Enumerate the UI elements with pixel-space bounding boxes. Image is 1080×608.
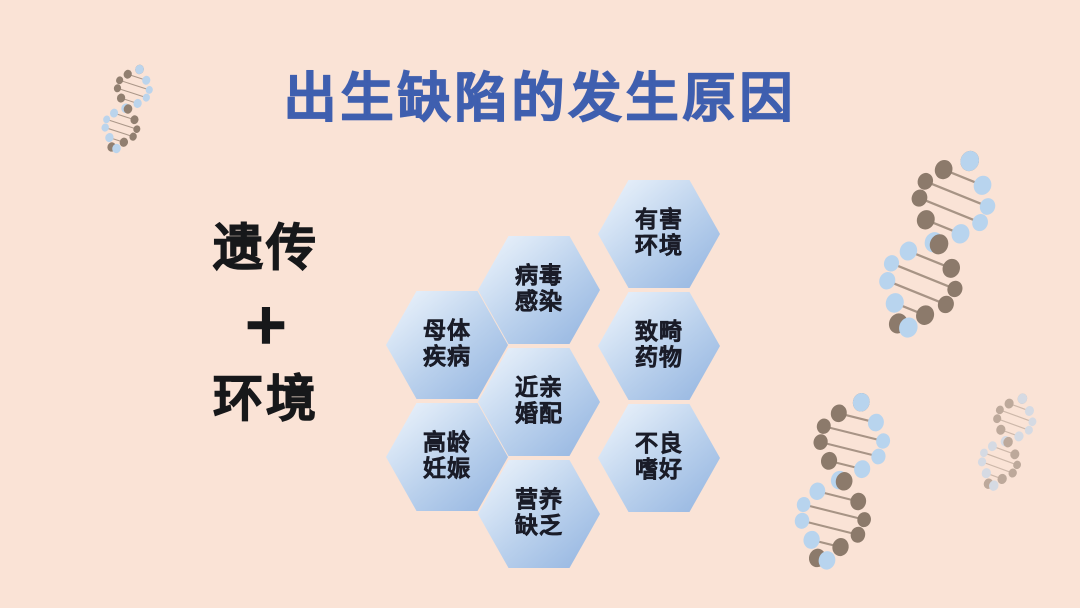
hexagon-label: 致畸 药物 bbox=[635, 320, 683, 372]
dna-node bbox=[851, 391, 872, 413]
dna-rung bbox=[887, 281, 946, 305]
dna-node bbox=[1016, 392, 1028, 405]
dna-node bbox=[977, 196, 997, 217]
dna-node bbox=[914, 207, 938, 232]
dna-rung bbox=[926, 220, 961, 234]
genetics-plus-environment-formula: 遗传 + 环境 bbox=[186, 222, 346, 425]
dna-node bbox=[935, 293, 956, 315]
dna-node bbox=[849, 525, 867, 544]
dna-rung bbox=[891, 263, 954, 289]
dna-node bbox=[995, 423, 1007, 436]
dna-node bbox=[829, 403, 849, 424]
dna-rung bbox=[984, 453, 1017, 465]
dna-node bbox=[852, 458, 872, 479]
dna-node bbox=[106, 141, 117, 153]
dna-helix-far-right bbox=[948, 377, 1066, 505]
dna-node bbox=[795, 496, 812, 514]
hexagon-label: 母体 疾病 bbox=[423, 319, 471, 371]
dna-node bbox=[866, 412, 886, 433]
dna-node bbox=[1013, 430, 1025, 443]
dna-double-helix-icon bbox=[738, 370, 945, 589]
dna-node bbox=[957, 148, 982, 174]
dna-node bbox=[834, 470, 855, 492]
dna-node bbox=[992, 413, 1003, 424]
dna-node bbox=[970, 212, 991, 234]
dna-node bbox=[982, 477, 994, 490]
dna-node bbox=[848, 491, 867, 512]
dna-rung bbox=[112, 147, 117, 149]
hexagon-label: 有害 环境 bbox=[635, 208, 683, 260]
dna-rung bbox=[944, 170, 983, 186]
hexagon-label: 近亲 婚配 bbox=[515, 376, 563, 428]
dna-node bbox=[995, 404, 1005, 415]
dna-node bbox=[851, 391, 872, 413]
hexagon-label: 病毒 感染 bbox=[515, 264, 563, 316]
dna-rung bbox=[925, 181, 987, 206]
hexagon-label: 不良 嗜好 bbox=[635, 432, 683, 484]
dna-node bbox=[957, 148, 982, 174]
dna-rung bbox=[804, 505, 865, 520]
page-title: 出生缺陷的发生原因 bbox=[0, 56, 1080, 132]
dna-node bbox=[883, 290, 907, 315]
dna-node bbox=[971, 173, 994, 198]
dna-double-helix-icon bbox=[948, 377, 1066, 505]
dna-node bbox=[1007, 467, 1018, 478]
dna-node bbox=[996, 473, 1008, 486]
dna-node bbox=[949, 221, 973, 246]
hexagon-label: 高龄 妊娠 bbox=[423, 431, 471, 483]
dna-node bbox=[1024, 405, 1036, 418]
dna-node bbox=[812, 433, 830, 452]
dna-node bbox=[945, 278, 965, 299]
hexagon-teratogenic-drugs[interactable]: 致畸 药物 bbox=[598, 292, 720, 400]
dna-node bbox=[808, 481, 827, 502]
dna-node bbox=[1009, 448, 1021, 460]
dna-node bbox=[118, 137, 129, 148]
dna-rung bbox=[812, 540, 841, 547]
dna-node bbox=[870, 447, 888, 466]
dna-helix-top-right bbox=[811, 113, 1063, 371]
dna-node bbox=[897, 239, 920, 263]
dna-node bbox=[793, 511, 811, 530]
hexagon-bad-habits[interactable]: 不良 嗜好 bbox=[598, 404, 720, 512]
dna-node bbox=[807, 547, 828, 569]
dna-rung bbox=[109, 138, 123, 143]
dna-node bbox=[881, 253, 901, 274]
dna-node bbox=[979, 447, 989, 458]
dna-rung bbox=[821, 442, 879, 456]
dna-node bbox=[932, 157, 955, 182]
dna-rung bbox=[839, 480, 844, 481]
dna-rung bbox=[992, 446, 1014, 454]
dna-node bbox=[977, 456, 988, 467]
genetics-label: 遗传 bbox=[186, 222, 346, 275]
dna-node bbox=[909, 187, 930, 209]
dna-node bbox=[1012, 460, 1022, 471]
dna-node bbox=[104, 132, 115, 143]
hexagon-harmful-environment[interactable]: 有害 环境 bbox=[598, 180, 720, 288]
dna-node bbox=[980, 467, 992, 480]
dna-node bbox=[829, 469, 850, 491]
dna-node bbox=[875, 432, 892, 450]
dna-rung bbox=[817, 491, 858, 501]
dna-node bbox=[940, 256, 963, 280]
dna-rung bbox=[986, 473, 1002, 479]
dna-rung bbox=[829, 461, 862, 469]
dna-node bbox=[1003, 397, 1015, 410]
dna-node bbox=[987, 440, 999, 452]
dna-node bbox=[1016, 392, 1028, 405]
dna-rung bbox=[997, 419, 1029, 431]
dna-rung bbox=[898, 323, 908, 327]
dna-node bbox=[922, 229, 947, 255]
dna-rung bbox=[934, 242, 939, 244]
dna-rung bbox=[839, 413, 876, 422]
dna-node bbox=[830, 536, 850, 558]
dna-node bbox=[111, 143, 122, 155]
dna-rung bbox=[1001, 430, 1019, 437]
plus-sign-icon: + bbox=[186, 297, 346, 353]
dna-double-helix-icon bbox=[811, 113, 1063, 371]
environment-label: 环境 bbox=[186, 373, 346, 426]
dna-rung bbox=[824, 426, 883, 441]
dna-node bbox=[913, 303, 937, 328]
dna-node bbox=[802, 529, 822, 551]
dna-node bbox=[877, 270, 898, 292]
dna-node bbox=[1002, 436, 1014, 449]
dna-node bbox=[915, 171, 935, 192]
dna-rung bbox=[895, 303, 925, 315]
dna-rung bbox=[982, 462, 1013, 473]
dna-node bbox=[988, 479, 1000, 492]
dna-rung bbox=[1000, 410, 1033, 422]
dna-node bbox=[128, 132, 138, 142]
dna-node bbox=[815, 417, 832, 435]
dna-node bbox=[886, 311, 911, 337]
dna-node bbox=[817, 549, 838, 571]
dna-node bbox=[927, 231, 952, 257]
hexagon-label: 营养 缺乏 bbox=[515, 488, 563, 540]
dna-rung bbox=[919, 198, 980, 222]
dna-rung bbox=[817, 558, 827, 560]
dna-rung bbox=[802, 521, 858, 535]
dna-node bbox=[1024, 425, 1035, 436]
dna-helix-bottom-right bbox=[738, 370, 945, 589]
dna-rung bbox=[1005, 441, 1008, 442]
dna-node bbox=[1027, 416, 1037, 427]
dna-node bbox=[819, 450, 839, 471]
dna-rung bbox=[1009, 404, 1029, 411]
dna-node bbox=[856, 511, 873, 529]
dna-rung bbox=[908, 251, 951, 268]
dna-node bbox=[999, 435, 1011, 448]
dna-rung bbox=[988, 484, 993, 486]
dna-node bbox=[896, 315, 921, 341]
poster-canvas: 出生缺陷的发生原因 遗传 + 环境 母体 疾病病毒 感染有害 环境致畸 药物近亲… bbox=[0, 0, 1080, 608]
